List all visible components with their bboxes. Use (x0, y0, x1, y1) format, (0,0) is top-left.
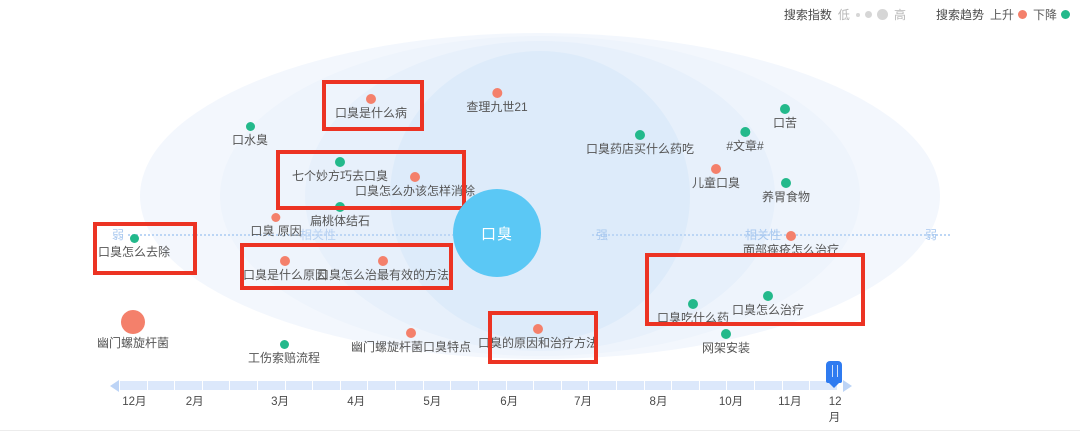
timeline-tick-label: 11月 (778, 394, 801, 410)
bubble-node-label: 幽门螺旋杆菌口臭特点 (351, 340, 471, 354)
legend-trend-down: 下降 (1033, 6, 1070, 23)
bubble-node-label: 网架安装 (702, 341, 750, 355)
timeline-segment (479, 381, 507, 390)
graph-canvas: 弱 相关性 强 相关性 弱 口水臭口臭是什么病查理九世21七个妙方巧去口臭口臭怎… (0, 26, 1080, 366)
bubble-node[interactable]: 口苦 (773, 104, 797, 132)
timeline-tick-label: 6月 (500, 394, 518, 410)
trend-down-dot-icon (780, 104, 790, 114)
center-keyword-label: 口臭 (481, 223, 513, 244)
timeline-segment (507, 381, 535, 390)
size-dot-medium-icon (865, 11, 872, 18)
legend-trend-up: 上升 (990, 6, 1027, 23)
timeline-segment (148, 381, 176, 390)
bubble-node-label: 幽门螺旋杆菌 (97, 336, 169, 350)
trend-up-dot-icon (492, 88, 502, 98)
timeline-tick-label: 12月 (122, 394, 146, 410)
trend-up-dot-icon (272, 213, 281, 222)
annotation-box (488, 311, 598, 364)
timeline-segment (589, 381, 617, 390)
timeline-next-arrow-icon[interactable] (843, 380, 852, 392)
legend-trend-down-label: 下降 (1033, 6, 1057, 23)
timeline-tick-labels: 12月2月3月4月5月6月7月8月10月11月12月 (120, 394, 838, 412)
timeline-segment (396, 381, 424, 390)
timeline-segment (286, 381, 314, 390)
bubble-node-label: 口水臭 (232, 133, 268, 147)
bubble-node[interactable]: 查理九世21 (466, 88, 527, 116)
axis-label-strong-right: 强 (596, 227, 608, 243)
annotation-box (93, 222, 197, 275)
bubble-node-label: 工伤索赔流程 (248, 351, 320, 365)
legend-trend-title: 搜索趋势 (936, 6, 984, 23)
timeline-segment (230, 381, 258, 390)
trend-down-dot-icon (1061, 10, 1070, 19)
trend-down-dot-icon (279, 340, 288, 349)
center-keyword-node[interactable]: 口臭 (453, 189, 541, 277)
annotation-box (322, 80, 424, 131)
legend-trend-up-label: 上升 (990, 6, 1014, 23)
timeline-segment (313, 381, 341, 390)
annotation-box (276, 150, 466, 210)
timeline-tick-label: 7月 (574, 394, 592, 410)
bubble-node[interactable]: 养胃食物 (762, 178, 810, 206)
timeline-segment (534, 381, 562, 390)
legend-index-low: 低 (838, 6, 850, 23)
timeline-segment (120, 381, 148, 390)
timeline-segment (203, 381, 231, 390)
timeline-slider[interactable]: 12月2月3月4月5月6月7月8月10月11月12月 (0, 370, 1080, 416)
timeline-segment (424, 381, 452, 390)
bubble-node-label: 口苦 (773, 116, 797, 130)
timeline-tick-label: 8月 (650, 394, 668, 410)
bubble-node-label: 养胃食物 (762, 190, 810, 204)
timeline-segment (617, 381, 645, 390)
bubble-node-label: 查理九世21 (466, 100, 527, 114)
bubble-node-label: 口臭药店买什么药吃 (586, 142, 694, 156)
timeline-segment (755, 381, 783, 390)
legend: 搜索指数 低 高 搜索趋势 上升 下降 (784, 6, 1070, 23)
timeline-prev-arrow-icon[interactable] (110, 380, 119, 392)
timeline-tick-label: 5月 (423, 394, 441, 410)
timeline-tick-label: 10月 (719, 394, 743, 410)
bubble-node[interactable]: #文章# (726, 127, 763, 155)
timeline-segment (783, 381, 811, 390)
bubble-node-label: 儿童口臭 (692, 176, 740, 190)
trend-down-dot-icon (635, 130, 645, 140)
legend-index-high: 高 (894, 6, 906, 23)
bubble-node[interactable]: 工伤索赔流程 (248, 340, 320, 367)
bubble-node-label: 口臭 原因 (250, 224, 301, 238)
timeline-handle[interactable] (826, 361, 842, 383)
trend-up-dot-icon (121, 310, 145, 334)
bubble-node[interactable]: 幽门螺旋杆菌口臭特点 (351, 328, 471, 356)
bubble-node[interactable]: 网架安装 (702, 329, 750, 357)
timeline-segment (368, 381, 396, 390)
trend-down-dot-icon (781, 178, 791, 188)
timeline-segment (175, 381, 203, 390)
bubble-node[interactable]: 儿童口臭 (692, 164, 740, 192)
bubble-node-label: #文章# (726, 139, 763, 153)
timeline-segment (700, 381, 728, 390)
bubble-node-label: 扁桃体结石 (310, 214, 370, 228)
timeline-segment (451, 381, 479, 390)
timeline-segments (120, 381, 838, 390)
bubble-node[interactable]: 幽门螺旋杆菌 (97, 310, 169, 352)
bubble-node[interactable]: 口臭 原因 (250, 213, 301, 240)
trend-down-dot-icon (245, 122, 254, 131)
timeline-segment (258, 381, 286, 390)
timeline-tick-label: 12月 (829, 394, 842, 426)
timeline-tick-label: 4月 (347, 394, 365, 410)
trend-down-dot-icon (740, 127, 750, 137)
demand-graph-page: 搜索指数 低 高 搜索趋势 上升 下降 弱 相关性 强 (0, 0, 1080, 437)
bubble-node[interactable]: 口臭药店买什么药吃 (586, 130, 694, 158)
trend-down-dot-icon (721, 329, 731, 339)
timeline-segment (672, 381, 700, 390)
trend-up-dot-icon (711, 164, 721, 174)
annotation-box (240, 243, 453, 290)
size-dot-large-icon (877, 9, 888, 20)
trend-up-dot-icon (406, 328, 416, 338)
legend-size-scale (856, 9, 888, 20)
size-dot-small-icon (856, 13, 860, 17)
timeline-segment (562, 381, 590, 390)
timeline-segment (341, 381, 369, 390)
trend-up-dot-icon (1018, 10, 1027, 19)
axis-label-weak-right: 弱 (925, 227, 937, 243)
bubble-node[interactable]: 口水臭 (232, 122, 268, 149)
trend-up-dot-icon (786, 231, 796, 241)
legend-index-title: 搜索指数 (784, 6, 832, 23)
footer-divider (0, 430, 1080, 431)
timeline-segment (645, 381, 673, 390)
timeline-segment (727, 381, 755, 390)
annotation-box (645, 253, 865, 326)
timeline-tick-label: 2月 (186, 394, 204, 410)
timeline-tick-label: 3月 (271, 394, 289, 410)
